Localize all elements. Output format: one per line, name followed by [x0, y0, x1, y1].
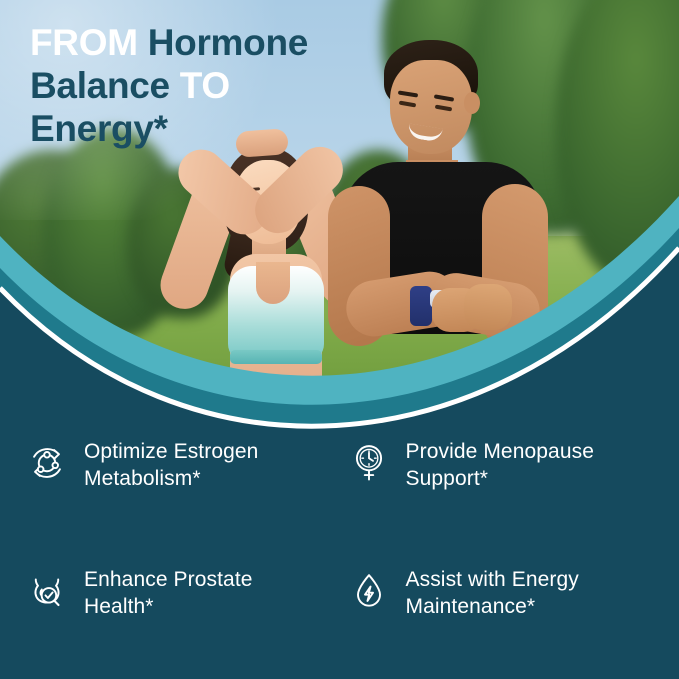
headline-line-3: Energy* — [30, 108, 430, 151]
clock-venus-icon — [346, 440, 392, 486]
woman-bra-band — [230, 350, 322, 364]
headline-line-2: Balance TO — [30, 65, 430, 108]
man-right-hand — [464, 284, 512, 330]
headline-energy: Energy* — [30, 108, 168, 149]
benefits-grid: Optimize Estrogen Metabolism* Provide Me… — [0, 424, 679, 679]
woman-bra-neckline — [256, 262, 290, 304]
benefit-item: Optimize Estrogen Metabolism* — [24, 424, 340, 552]
product-benefit-graphic: FROM Hormone Balance TO Energy* — [0, 0, 679, 679]
headline-hormone: Hormone — [148, 22, 308, 63]
benefit-label: Assist with Energy Maintenance* — [406, 566, 579, 621]
smartwatch-band — [410, 286, 432, 326]
metabolism-cycle-icon — [24, 440, 70, 486]
headline-line-1: FROM Hormone — [30, 22, 430, 65]
benefit-item: Provide Menopause Support* — [346, 424, 662, 552]
benefit-label: Enhance Prostate Health* — [84, 566, 253, 621]
benefit-item: Assist with Energy Maintenance* — [346, 552, 662, 679]
headline-balance: Balance — [30, 65, 170, 106]
man-ear — [464, 92, 480, 114]
benefit-label: Provide Menopause Support* — [406, 438, 595, 493]
droplet-bolt-icon — [346, 568, 392, 614]
headline-to: TO — [180, 65, 230, 106]
prostate-check-icon — [24, 568, 70, 614]
benefit-label: Optimize Estrogen Metabolism* — [84, 438, 258, 493]
benefit-item: Enhance Prostate Health* — [24, 552, 340, 679]
headline-from: FROM — [30, 22, 138, 63]
page-title: FROM Hormone Balance TO Energy* — [30, 22, 430, 151]
